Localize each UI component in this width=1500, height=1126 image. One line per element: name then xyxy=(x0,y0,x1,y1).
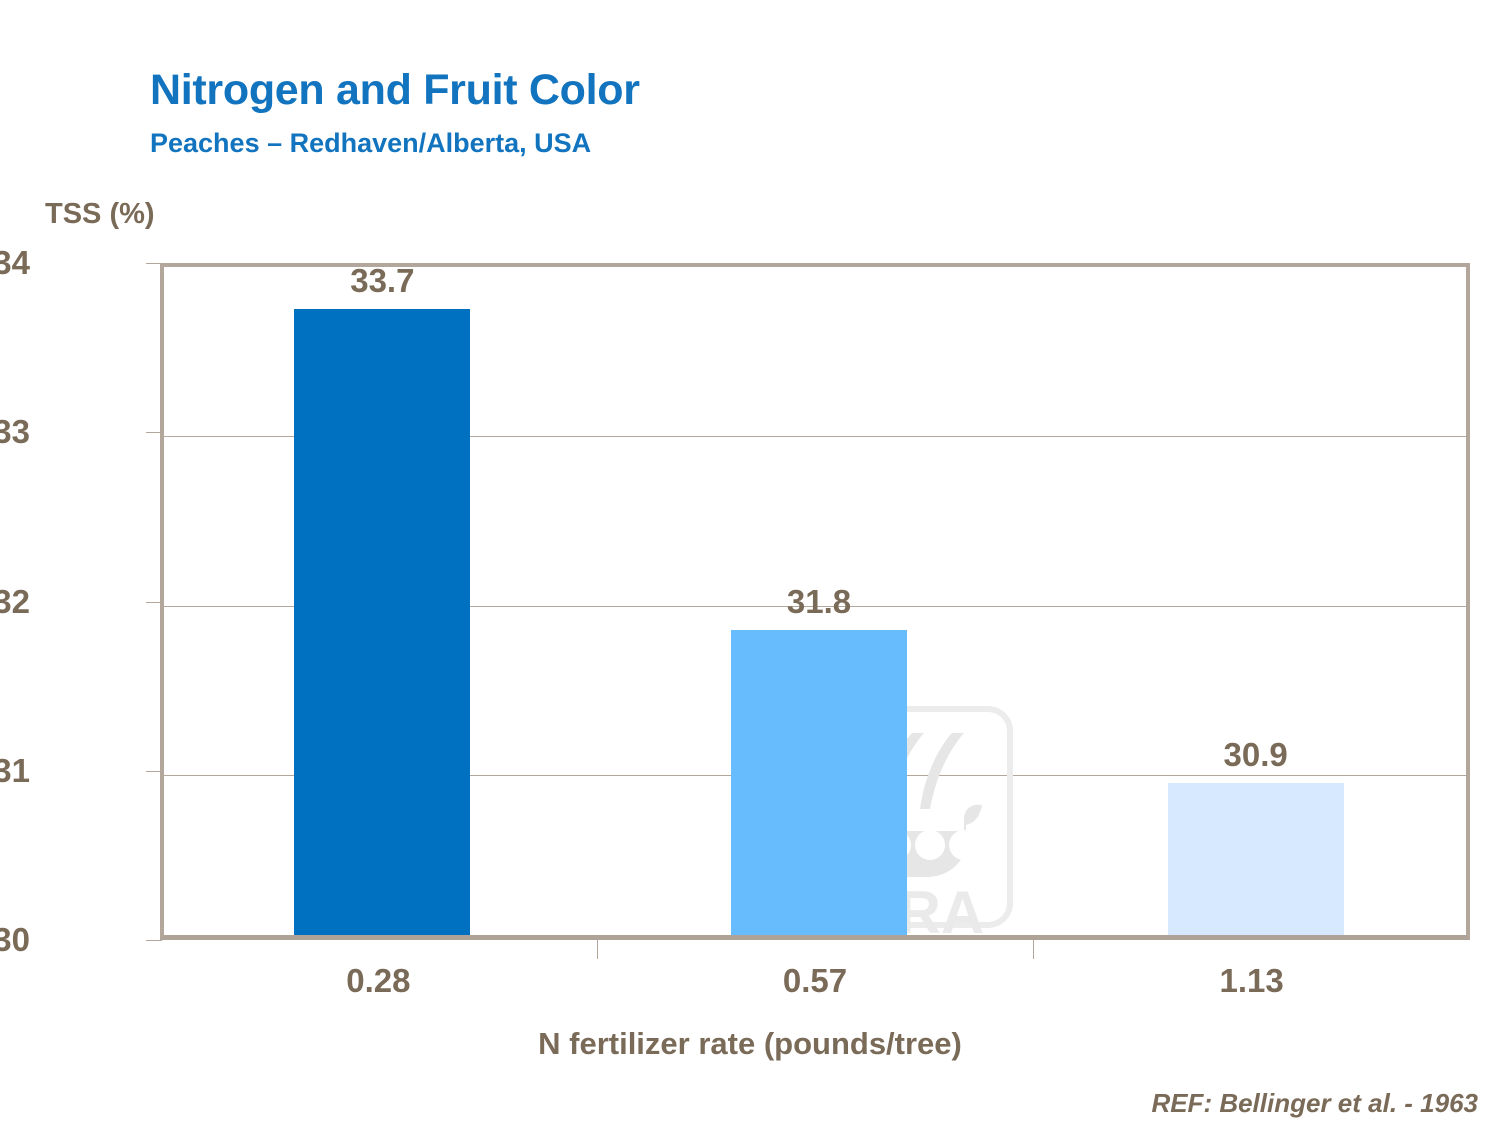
x-axis-tick-label: 1.13 xyxy=(1220,962,1284,1000)
y-axis-tick-mark xyxy=(146,432,162,433)
y-axis-tick-mark xyxy=(146,263,162,264)
y-axis-tick-label: 31 xyxy=(0,752,30,790)
reference-note: REF: Bellinger et al. - 1963 xyxy=(1151,1088,1478,1119)
y-axis-tick-label: 32 xyxy=(0,583,30,621)
y-axis-tick-mark xyxy=(146,602,162,603)
y-axis-tick-mark xyxy=(146,771,162,772)
x-axis-tick-mark xyxy=(597,940,598,959)
x-axis-title: N fertilizer rate (pounds/tree) xyxy=(0,1026,1500,1062)
y-axis-tick-label: 34 xyxy=(0,244,30,282)
y-axis-title: TSS (%) xyxy=(45,198,155,231)
bar-value-label: 30.9 xyxy=(1224,736,1288,774)
x-axis-tick-mark xyxy=(1033,940,1034,959)
bar-value-label: 33.7 xyxy=(350,262,414,300)
chart-plot-area: YARA 33.731.830.9 xyxy=(160,263,1470,940)
bar-value-label: 31.8 xyxy=(787,583,851,621)
y-axis-tick-label: 30 xyxy=(0,921,30,959)
x-axis-tick-label: 0.28 xyxy=(346,962,410,1000)
bar[interactable] xyxy=(731,630,907,935)
page-subtitle: Peaches – Redhaven/Alberta, USA xyxy=(150,128,591,159)
page-title: Nitrogen and Fruit Color xyxy=(150,66,640,115)
x-axis-tick-label: 0.57 xyxy=(783,962,847,1000)
y-axis-tick-mark xyxy=(146,940,162,941)
bar[interactable] xyxy=(294,309,470,935)
bar[interactable] xyxy=(1168,783,1344,935)
y-axis-tick-label: 33 xyxy=(0,413,30,451)
